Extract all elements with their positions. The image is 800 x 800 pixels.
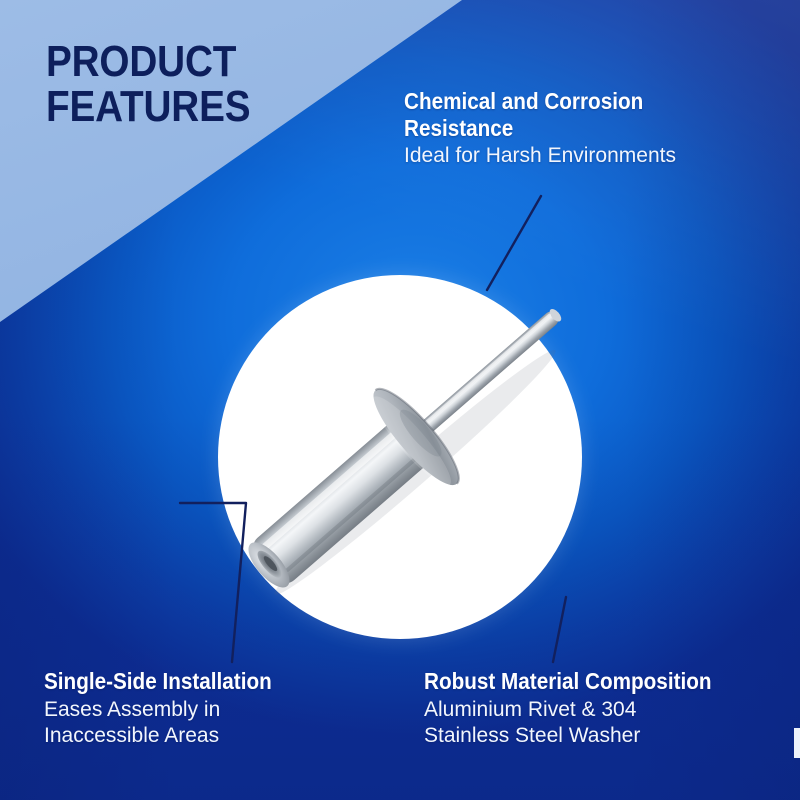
product-features-infographic: PRODUCT FEATURES — [0, 0, 800, 800]
callout-single-side-title: Single-Side Installation — [44, 668, 368, 695]
callout-single-side: Single-Side Installation Eases Assembly … — [44, 668, 404, 750]
callout-chemical-title: Chemical and Corrosion Resistance — [404, 88, 737, 141]
callout-chemical-subtitle: Ideal for Harsh Environments — [404, 143, 774, 169]
callout-chemical: Chemical and Corrosion Resistance Ideal … — [404, 88, 774, 170]
callout-robust-material: Robust Material Composition Aluminium Ri… — [424, 668, 796, 750]
callout-robust-material-subtitle: Aluminium Rivet & 304 Stainless Steel Wa… — [424, 697, 796, 750]
callout-robust-material-title: Robust Material Composition — [424, 668, 759, 695]
product-image-circle — [218, 275, 582, 639]
callout-single-side-subtitle: Eases Assembly in Inaccessible Areas — [44, 697, 404, 750]
page-title: PRODUCT FEATURES — [46, 40, 345, 130]
right-edge-notch — [794, 728, 800, 758]
